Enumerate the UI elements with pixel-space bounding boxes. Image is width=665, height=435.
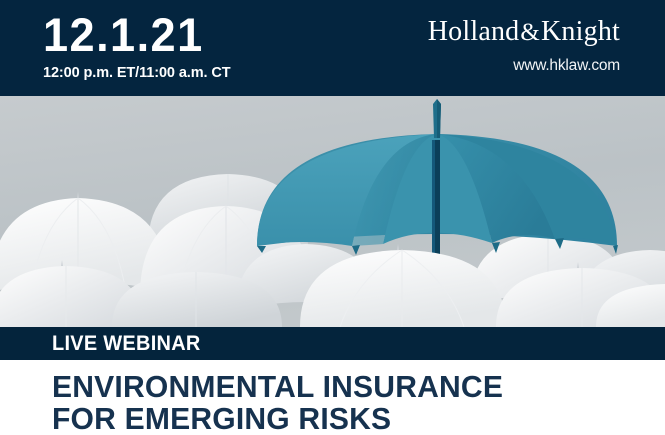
website-url[interactable]: www.hklaw.com bbox=[428, 56, 620, 76]
holland-knight-logo: Holland&Knight bbox=[428, 16, 620, 49]
brand-name-second: Knight bbox=[541, 16, 620, 47]
ampersand-glyph: & bbox=[519, 19, 541, 46]
event-time: 12:00 p.m. ET/11:00 a.m. CT bbox=[43, 64, 303, 82]
title-area: ENVIRONMENTAL INSURANCE FOR EMERGING RIS… bbox=[0, 360, 665, 435]
header-bar: 12.1.21 12:00 p.m. ET/11:00 a.m. CT Holl… bbox=[0, 0, 665, 96]
live-webinar-label: LIVE WEBINAR bbox=[52, 331, 201, 356]
live-webinar-bar: LIVE WEBINAR bbox=[0, 327, 665, 360]
umbrella-illustration bbox=[0, 96, 665, 327]
title-line-2: FOR EMERGING RISKS bbox=[52, 401, 391, 435]
umbrella-photo bbox=[0, 96, 665, 327]
event-date: 12.1.21 bbox=[43, 9, 293, 61]
brand-name-first: Holland bbox=[428, 16, 520, 47]
title-line-1: ENVIRONMENTAL INSURANCE bbox=[52, 369, 503, 404]
brand-block: Holland&Knight www.hklaw.com bbox=[428, 16, 620, 76]
date-block: 12.1.21 12:00 p.m. ET/11:00 a.m. CT bbox=[43, 9, 303, 82]
webinar-promo-graphic: 12.1.21 12:00 p.m. ET/11:00 a.m. CT Holl… bbox=[0, 0, 665, 435]
